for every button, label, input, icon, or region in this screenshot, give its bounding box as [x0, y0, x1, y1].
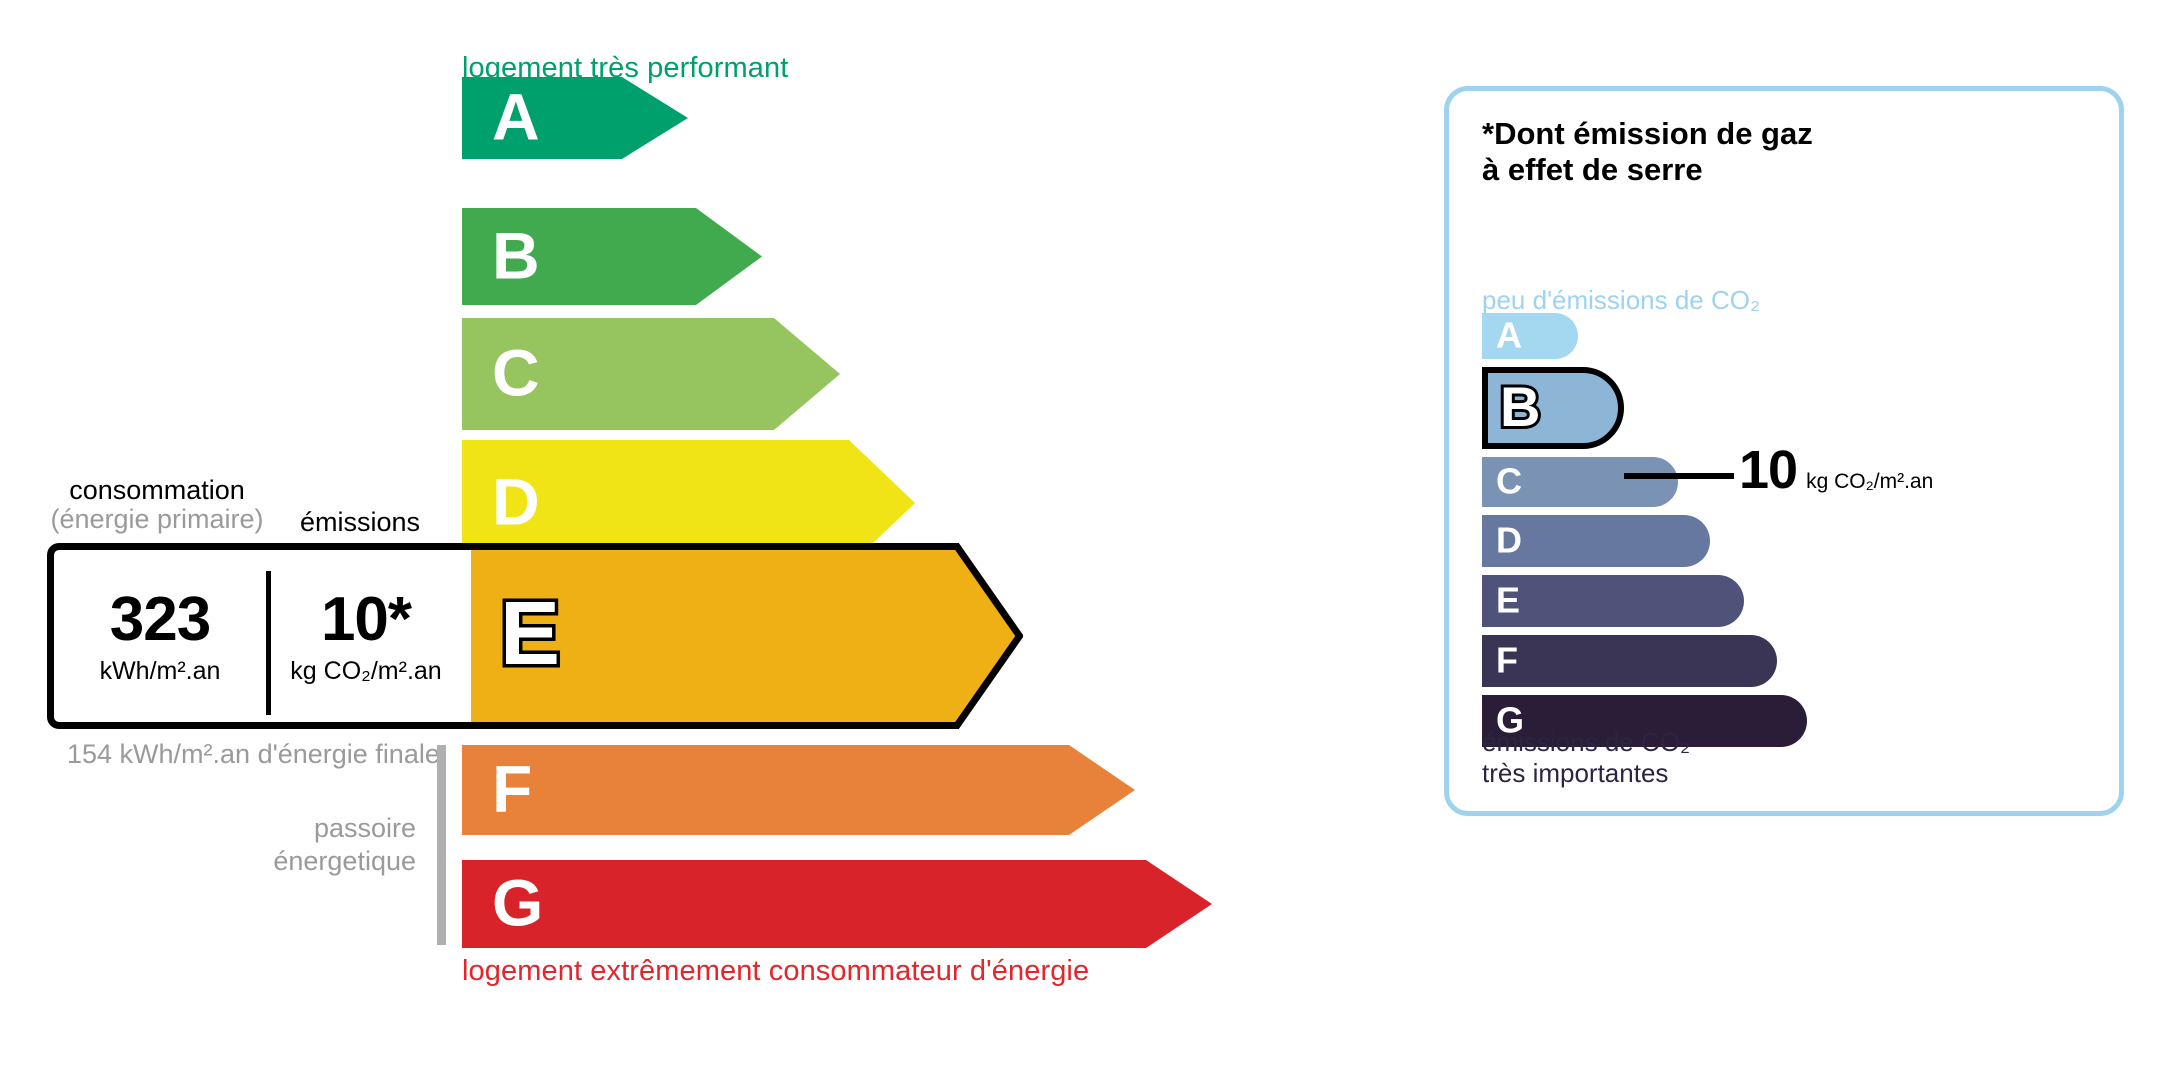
value-box: 323 kWh/m².an 10* kg CO₂/m².an [47, 543, 471, 729]
co2-bar-row: B [1482, 367, 1624, 449]
co2-top-caption: peu d'émissions de CO₂ [1482, 285, 1760, 316]
co2-bar-letter-d: D [1496, 522, 1522, 558]
energy-band-row: G [0, 860, 1380, 948]
co2-value-unit: kg CO₂/m².an [1806, 471, 1933, 492]
co2-bar-row: E [1482, 575, 1744, 627]
emissions-value: 10* [321, 589, 411, 651]
consumption-value: 323 [110, 589, 210, 651]
co2-bar-row: A [1482, 313, 1578, 359]
energy-band-letter-d: D [492, 469, 540, 535]
energy-band-row: A [0, 77, 1380, 159]
co2-bar-row: D [1482, 515, 1710, 567]
consumption-label-line2: (énergie primaire) [47, 505, 267, 534]
co2-bar-letter-a: A [1496, 317, 1522, 353]
co2-bar-row: F [1482, 635, 1777, 687]
co2-value-group: 10 kg CO₂/m².an [1739, 443, 1933, 497]
co2-bar-letter-b: B [1500, 379, 1540, 435]
co2-bar-letter-e: E [1496, 582, 1520, 618]
energy-band-letter-c: C [492, 340, 540, 406]
emissions-label: émissions [300, 508, 420, 537]
co2-bar-row: C [1482, 457, 1678, 507]
emissions-value-cell: 10* kg CO₂/m².an [266, 550, 466, 722]
co2-bar-letter-c: C [1496, 463, 1522, 499]
energy-band-row: C [0, 318, 1380, 430]
co2-leader-line [1624, 473, 1734, 479]
emissions-unit: kg CO₂/m².an [290, 659, 441, 684]
energy-band-letter-g: G [492, 870, 543, 936]
consumption-value-cell: 323 kWh/m².an [54, 550, 266, 722]
energy-band-row: B [0, 208, 1380, 305]
co2-bar-letter-f: F [1496, 642, 1518, 678]
energy-band-letter-a: A [492, 84, 540, 150]
energy-bottom-caption: logement extrêmement consommateur d'éner… [462, 955, 1089, 988]
final-energy-note: 154 kWh/m².an d'énergie finale [67, 738, 440, 771]
co2-bottom-caption: émissions de CO₂ très importantes [1482, 727, 1690, 789]
energy-band-letter-e: E [500, 589, 560, 679]
passoire-energetique-label: passoire énergetique [236, 812, 416, 878]
energy-band-g [462, 860, 1212, 948]
energy-performance-diagram: logement très performant ABCDEFG consomm… [0, 0, 1380, 1079]
consumption-unit: kWh/m².an [100, 659, 221, 684]
consumption-label-line1: consommation [47, 476, 267, 505]
co2-panel-title: *Dont émission de gaz à effet de serre [1482, 116, 1813, 188]
consumption-label: consommation (énergie primaire) [47, 476, 267, 534]
energy-band-letter-f: F [492, 756, 532, 822]
co2-bar-e [1482, 575, 1744, 627]
energy-band-f [462, 745, 1135, 835]
co2-value: 10 [1739, 443, 1797, 497]
co2-bar-f [1482, 635, 1777, 687]
energy-band-letter-b: B [492, 222, 540, 288]
passoire-energetique-bar [437, 745, 446, 945]
co2-panel: *Dont émission de gaz à effet de serre p… [1444, 86, 2124, 816]
